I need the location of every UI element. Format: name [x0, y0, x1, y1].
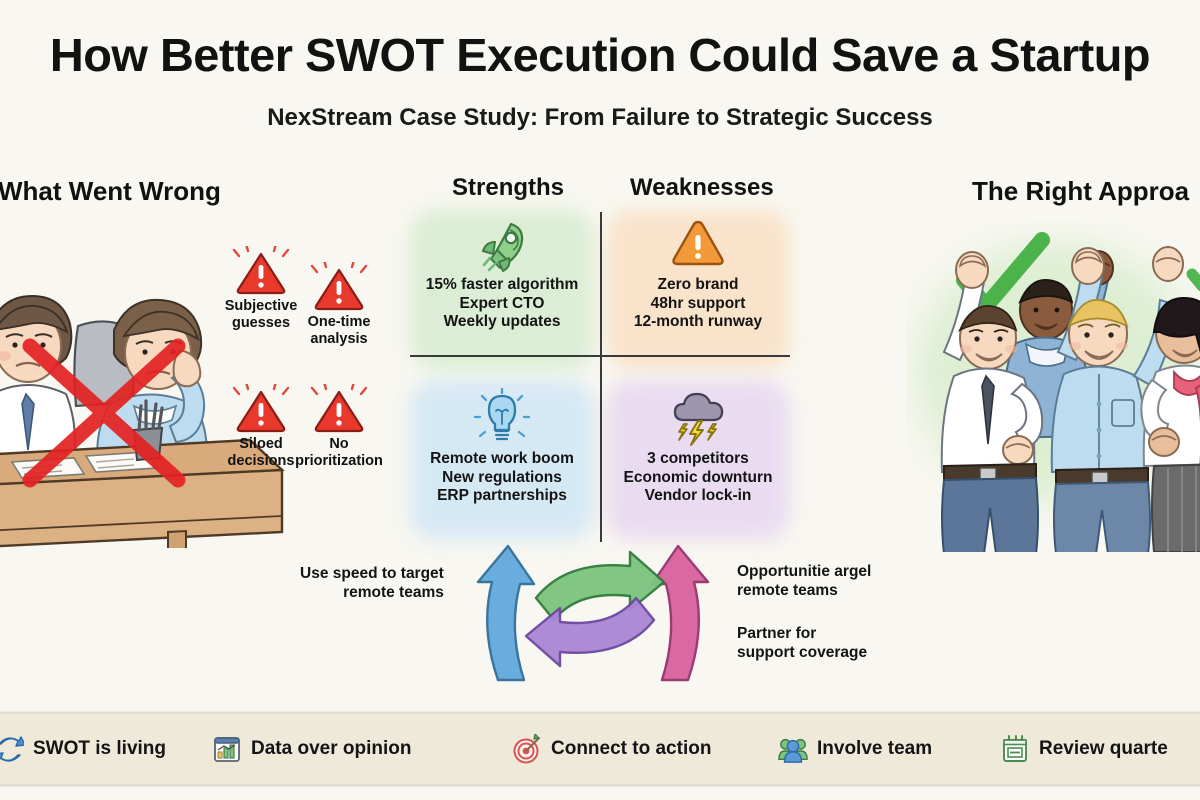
- warning-chip-one-time-analysis: One-time analysis: [291, 262, 387, 347]
- takeaway-item-connect-to-action[interactable]: Connect to action: [512, 734, 711, 764]
- opportunity-item-0: Remote work boom: [430, 450, 574, 467]
- people-group-icon: [778, 734, 808, 764]
- strength-item-2: Weekly updates: [444, 313, 561, 330]
- section-heading-what-went-wrong: What Went Wrong: [0, 176, 221, 207]
- weakness-item-2: 12-month runway: [634, 313, 762, 330]
- warning-triangle-icon: [310, 384, 368, 434]
- weakness-item-1: 48hr support: [651, 295, 746, 312]
- threat-item-0: 3 competitors: [647, 450, 749, 467]
- swot-vertical-divider: [600, 212, 602, 542]
- cycle-label-right-top-line2: remote teams: [737, 582, 838, 599]
- page-subtitle: NexStream Case Study: From Failure to St…: [0, 104, 1200, 132]
- swot-quadrant-weaknesses: Zero brand 48hr support 12-month runway: [600, 206, 796, 376]
- takeaway-label: Involve team: [817, 738, 932, 760]
- lightbulb-icon: [473, 386, 531, 448]
- calendar-icon: [1000, 734, 1030, 764]
- strength-item-0: 15% faster algorithm: [426, 276, 578, 293]
- swot-quadrant-strengths: 15% faster algorithm Expert CTO Weekly u…: [404, 206, 600, 376]
- warning-label-line1: No: [329, 436, 348, 452]
- warning-chip-no-prioritization: No prioritization: [291, 384, 387, 469]
- quadrant-title-weaknesses: Weaknesses: [630, 174, 774, 202]
- weakness-item-0: Zero brand: [658, 276, 739, 293]
- cycle-label-right-bottom-line2: support coverage: [737, 644, 867, 661]
- page-title: How Better SWOT Execution Could Save a S…: [0, 28, 1200, 82]
- refresh-cycle-icon: [0, 734, 24, 764]
- bar-chart-window-icon: [212, 734, 242, 764]
- takeaway-item-swot-is-living[interactable]: SWOT is living: [0, 734, 166, 764]
- warning-triangle-icon: [232, 246, 290, 296]
- takeaway-item-data-over-opinion[interactable]: Data over opinion: [212, 734, 411, 764]
- rocket-icon: [473, 212, 531, 274]
- opportunity-item-2: ERP partnerships: [437, 487, 567, 504]
- warning-label-line2: analysis: [310, 331, 367, 347]
- cycle-label-right-top: Opportunitie argel remote teams: [737, 563, 871, 601]
- quadrant-title-strengths: Strengths: [452, 174, 564, 202]
- storm-cloud-lightning-icon: [667, 386, 729, 448]
- celebrating-team-illustration: [906, 222, 1200, 552]
- strategy-cycle-arrows: [440, 520, 760, 685]
- warning-label-line2: decisions: [228, 453, 295, 469]
- takeaway-label: SWOT is living: [33, 738, 166, 760]
- warning-label-line1: Siloed: [239, 436, 283, 452]
- swot-horizontal-divider: [410, 355, 790, 357]
- takeaway-label: Data over opinion: [251, 738, 411, 760]
- warning-label-line2: guesses: [232, 315, 290, 331]
- takeaway-item-review-quarterly[interactable]: Review quarte: [1000, 734, 1168, 764]
- key-takeaways-band: SWOT is living Data over opinion: [0, 712, 1200, 786]
- takeaway-label: Connect to action: [551, 738, 711, 760]
- cycle-label-right-top-line1: Opportunitie argel: [737, 563, 871, 580]
- warning-triangle-orange-icon: [669, 212, 727, 274]
- opportunity-item-1: New regulations: [442, 469, 562, 486]
- pink-up-arrow: [652, 546, 708, 680]
- warning-label-line1: Subjective: [225, 298, 298, 314]
- takeaway-label: Review quarte: [1039, 738, 1168, 760]
- cycle-label-right-bottom-line1: Partner for: [737, 625, 816, 642]
- threat-item-2: Vendor lock-in: [645, 487, 752, 504]
- cycle-label-left-line2: remote teams: [343, 584, 444, 601]
- infographic-canvas: How Better SWOT Execution Could Save a S…: [0, 0, 1200, 800]
- blue-up-arrow: [478, 546, 534, 680]
- strength-item-1: Expert CTO: [460, 295, 545, 312]
- cycle-label-left: Use speed to target remote teams: [300, 565, 444, 603]
- warning-triangle-icon: [232, 384, 290, 434]
- warning-triangle-icon: [310, 262, 368, 312]
- target-dart-icon: [512, 734, 542, 764]
- section-heading-the-right-approach: The Right Approa: [972, 176, 1189, 207]
- threat-item-1: Economic downturn: [624, 469, 773, 486]
- takeaway-item-involve-team[interactable]: Involve team: [778, 734, 932, 764]
- warning-label-line1: One-time: [308, 314, 371, 330]
- cycle-label-left-line1: Use speed to target: [300, 565, 444, 582]
- warning-label-line2: prioritization: [295, 453, 383, 469]
- cycle-label-right-bottom: Partner for support coverage: [737, 625, 867, 663]
